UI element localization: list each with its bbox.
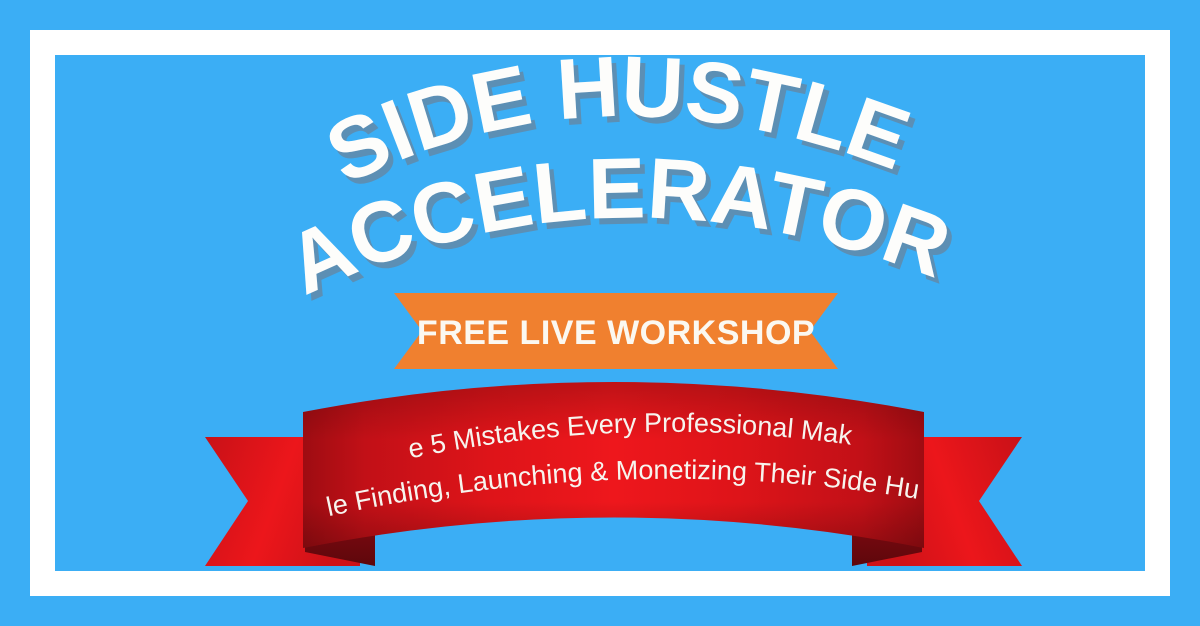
free-live-workshop-badge: FREE LIVE WORKSHOP	[394, 293, 838, 369]
poster-artwork: SIDE HUSTLE SIDE HUSTLE ACCELERATOR ACCE…	[0, 0, 1200, 626]
event-poster: SIDE HUSTLE SIDE HUSTLE ACCELERATOR ACCE…	[0, 0, 1200, 626]
badge-label: FREE LIVE WORKSHOP	[417, 314, 815, 352]
